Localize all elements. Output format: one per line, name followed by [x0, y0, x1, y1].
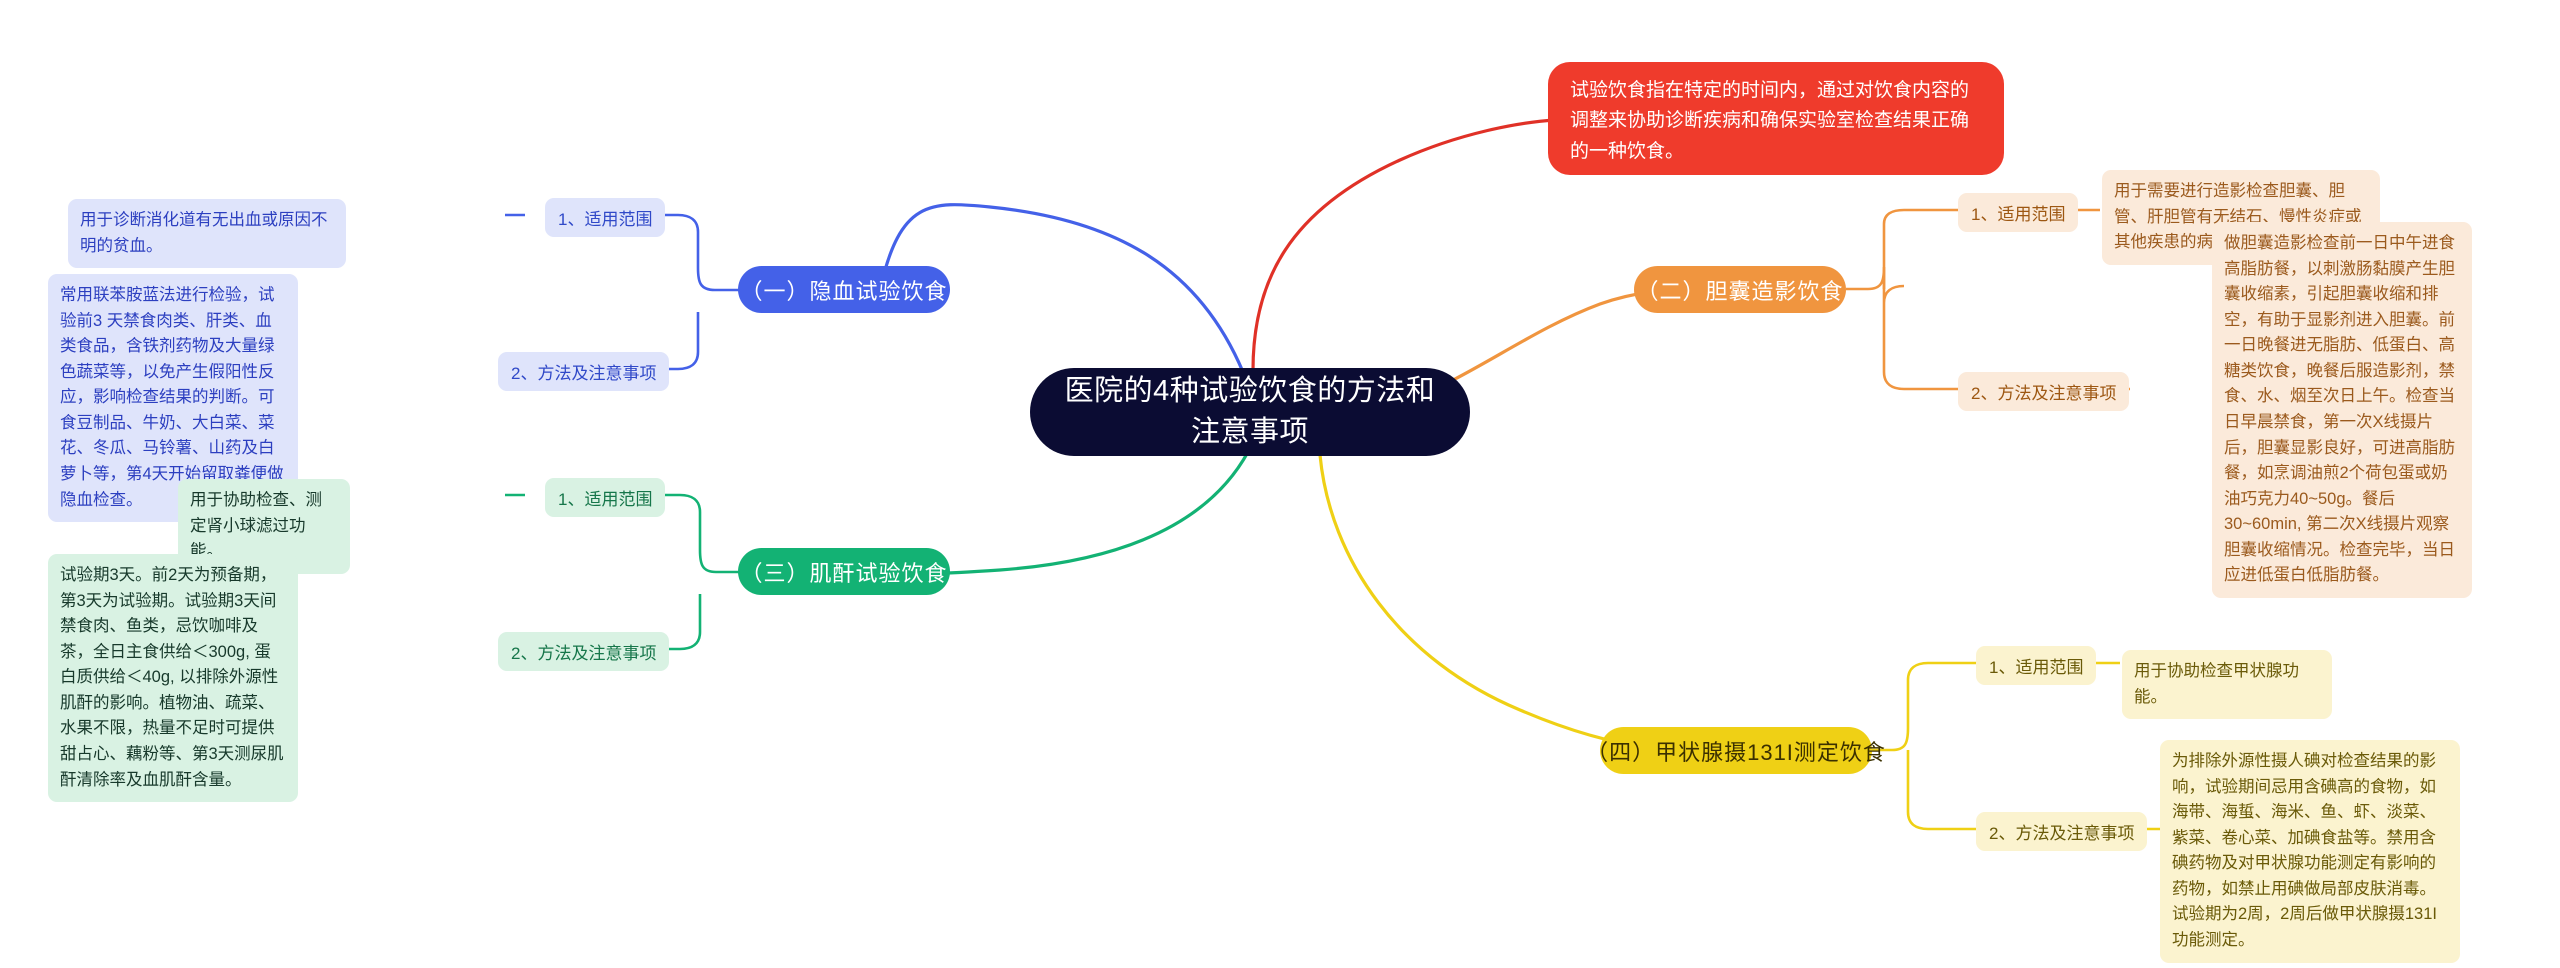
branch-node-3[interactable]: （三）肌酐试验饮食: [738, 548, 950, 595]
branch-3-child-1-label-chip[interactable]: 1、适用范围: [545, 478, 665, 517]
central-topic[interactable]: 医院的4种试验饮食的方法和注意事项: [1030, 368, 1470, 456]
branch-4-child-1-text: 用于协助检查甲状腺功能。: [2134, 662, 2299, 706]
branch-node-4[interactable]: （四）甲状腺摄131I测定饮食: [1600, 727, 1872, 774]
connector-branch-1-fork: [678, 215, 742, 369]
branch-4-child-2-label-chip[interactable]: 2、方法及注意事项: [1976, 812, 2147, 851]
branch-1-child-1-text: 用于诊断消化道有无出血或原因不明的贫血。: [80, 211, 328, 255]
branch-4-child-2-text: 为排除外源性摄人碘对检查结果的影响，试验期间忌用含碘高的食物，如海带、海蜇、海米…: [2172, 752, 2437, 949]
branch-4-child-1-text-box[interactable]: 用于协助检查甲状腺功能。: [2122, 650, 2332, 719]
connector-branch-2-fork: [1846, 267, 1904, 389]
branch-2-child-1-label: 1、适用范围: [1971, 200, 2065, 225]
branch-node-1-label: （一）隐血试验饮食: [741, 274, 948, 306]
intro-note-text: 试验饮食指在特定的时间内，通过对饮食内容的调整来协助诊断疾病和确保实验室检查结果…: [1570, 80, 1969, 162]
branch-4-child-1-label: 1、适用范围: [1989, 653, 2083, 678]
connector-intro: [1253, 120, 1556, 370]
branch-node-2[interactable]: （二）胆囊造影饮食: [1634, 266, 1846, 313]
branch-node-3-label: （三）肌酐试验饮食: [741, 556, 948, 588]
branch-1-child-2-label: 2、方法及注意事项: [511, 359, 656, 384]
branch-1-child-2-label-chip[interactable]: 2、方法及注意事项: [498, 352, 669, 391]
branch-2-child-2-label-chip[interactable]: 2、方法及注意事项: [1958, 372, 2129, 411]
branch-3-child-2-text: 试验期3天。前2天为预备期，第3天为试验期。试验期3天间禁食肉、鱼类，忌饮咖啡及…: [60, 566, 284, 789]
branch-1-child-1-label-chip[interactable]: 1、适用范围: [545, 198, 665, 237]
branch-1-child-1-label: 1、适用范围: [558, 205, 652, 230]
mindmap-canvas: 医院的4种试验饮食的方法和注意事项 试验饮食指在特定的时间内，通过对饮食内容的调…: [0, 0, 2560, 968]
branch-2-child-2-text-box[interactable]: 做胆囊造影检查前一日中午进食高脂肪餐，以刺激肠黏膜产生胆囊收缩素，引起胆囊收缩和…: [2212, 222, 2472, 598]
branch-3-child-2-label: 2、方法及注意事项: [511, 639, 656, 664]
connector-branch-3-stems: [523, 495, 680, 649]
branch-2-child-1-label-chip[interactable]: 1、适用范围: [1958, 193, 2078, 232]
branch-4-child-2-text-box[interactable]: 为排除外源性摄人碘对检查结果的影响，试验期间忌用含碘高的食物，如海带、海蜇、海米…: [2160, 740, 2460, 963]
connector-branch-3-fork: [680, 495, 742, 649]
connector-branch-1-stems: [520, 215, 678, 369]
branch-3-child-1-label: 1、适用范围: [558, 485, 652, 510]
branch-1-child-1-text-box[interactable]: 用于诊断消化道有无出血或原因不明的贫血。: [68, 199, 346, 268]
branch-3-child-2-label-chip[interactable]: 2、方法及注意事项: [498, 632, 669, 671]
connector-branch-4-stems: [1928, 663, 1990, 829]
branch-4-child-2-label: 2、方法及注意事项: [1989, 819, 2134, 844]
branch-node-4-label: （四）甲状腺摄131I测定饮食: [1586, 735, 1886, 767]
central-topic-label: 医院的4种试验饮食的方法和注意事项: [1056, 371, 1444, 453]
branch-2-child-2-text: 做胆囊造影检查前一日中午进食高脂肪餐，以刺激肠黏膜产生胆囊收缩素，引起胆囊收缩和…: [2224, 234, 2455, 584]
branch-node-2-label: （二）胆囊造影饮食: [1637, 274, 1844, 306]
branch-4-child-1-label-chip[interactable]: 1、适用范围: [1976, 646, 2096, 685]
branch-1-child-2-text: 常用联苯胺蓝法进行检验，试验前3 天禁食肉类、肝类、血类食品，含铁剂药物及大量绿…: [60, 286, 284, 509]
branch-node-1[interactable]: （一）隐血试验饮食: [738, 266, 950, 313]
intro-note[interactable]: 试验饮食指在特定的时间内，通过对饮食内容的调整来协助诊断疾病和确保实验室检查结果…: [1548, 62, 2004, 175]
connector-branch-2-stems: [1904, 210, 1960, 389]
branch-3-child-2-text-box[interactable]: 试验期3天。前2天为预备期，第3天为试验期。试验期3天间禁食肉、鱼类，忌饮咖啡及…: [48, 554, 298, 802]
branch-3-child-1-text: 用于协助检查、测定肾小球滤过功能。: [190, 491, 322, 560]
connector-branch-4: [1320, 455, 1672, 750]
branch-2-child-2-label: 2、方法及注意事项: [1971, 379, 2116, 404]
